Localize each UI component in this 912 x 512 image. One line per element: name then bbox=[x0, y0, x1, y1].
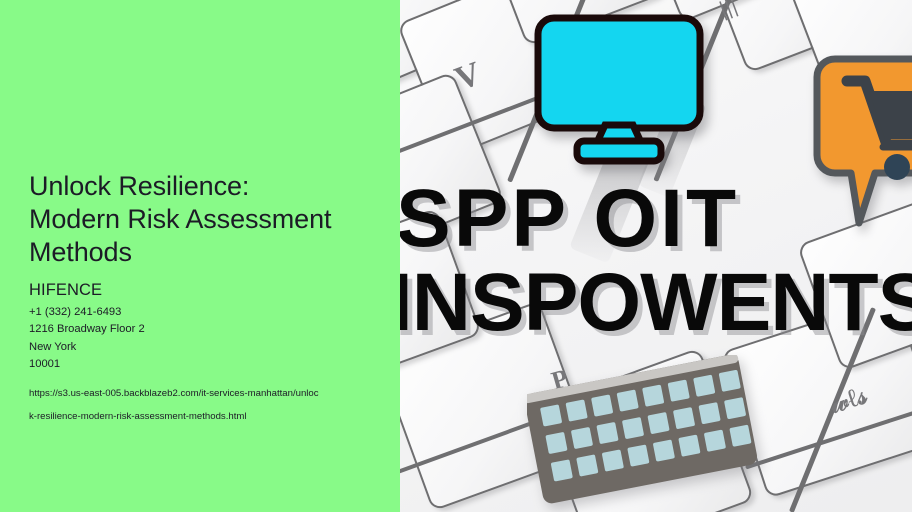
url-line-1: https://s3.us-east-005.backblazeb2.com/i… bbox=[29, 382, 374, 405]
shopping-cart-bubble-icon bbox=[813, 55, 912, 230]
page-title: Unlock Resilience: Modern Risk Assessmen… bbox=[29, 170, 400, 269]
contact-street: 1216 Broadway Floor 2 bbox=[29, 321, 400, 338]
contact-zip: 10001 bbox=[29, 356, 400, 373]
contact-phone: +1 (332) 241-6493 bbox=[29, 304, 400, 321]
monitor-icon bbox=[533, 13, 705, 165]
contact-city: New York bbox=[29, 339, 400, 356]
overlay-headline-line-2: INSPOWENTS bbox=[400, 262, 912, 344]
text-panel: Unlock Resilience: Modern Risk Assessmen… bbox=[0, 0, 400, 512]
keypad-icon bbox=[527, 355, 757, 512]
overlay-headline-line-1: SPP OIT bbox=[400, 178, 739, 260]
url-line-2: k-resilience-modern-risk-assessment-meth… bbox=[29, 405, 374, 428]
brand-name: HIFENCE bbox=[29, 281, 400, 300]
text-block: Unlock Resilience: Modern Risk Assessmen… bbox=[29, 170, 400, 428]
source-url[interactable]: https://s3.us-east-005.backblazeb2.com/i… bbox=[29, 382, 374, 428]
contact-block: +1 (332) 241-6493 1216 Broadway Floor 2 … bbox=[29, 304, 400, 373]
promotional-banner: V P ||| 𝓌ℓ𝓈 ʃ bbox=[0, 0, 912, 512]
illustration-panel: V P ||| 𝓌ℓ𝓈 ʃ bbox=[400, 0, 912, 512]
